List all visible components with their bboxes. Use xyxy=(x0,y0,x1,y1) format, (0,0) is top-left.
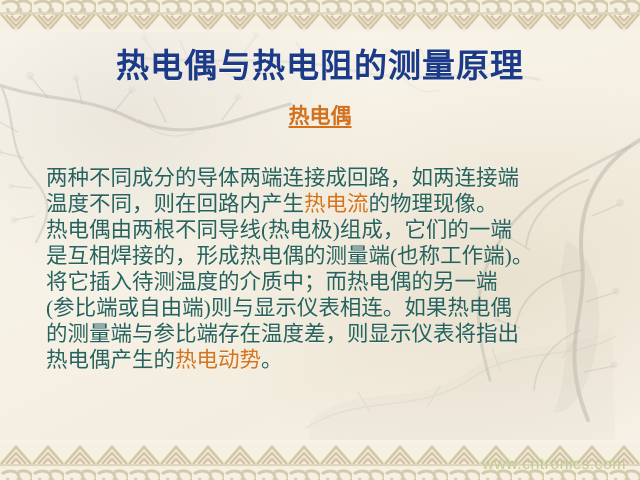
slide-canvas: 热电偶与热电阻的测量原理 热电偶 两种不同成分的导体两端连接成回路，如两连接端温… xyxy=(0,0,640,480)
body-run: (参比端或自由端)则与显示仪表相连。如果热电偶 xyxy=(46,296,512,320)
body-run: 温度不同，则在回路内产生 xyxy=(46,192,304,216)
body-run: 是互相焊接的，形成热电偶的测量端(也称工作端)。 xyxy=(46,244,533,268)
body-line: 两种不同成分的导体两端连接成回路，如两连接端 xyxy=(46,165,608,191)
slide-subtitle: 热电偶 xyxy=(0,103,640,129)
ornamental-border-top xyxy=(0,0,640,32)
body-run: 将它插入待测温度的介质中；而热电偶的另一端 xyxy=(46,270,498,294)
body-highlight-term: 热电流 xyxy=(304,192,369,216)
body-run: 的测量端与参比端存在温度差，则显示仪表将指出 xyxy=(46,322,519,346)
body-run: 热电偶产生的 xyxy=(46,348,175,372)
body-line: 的测量端与参比端存在温度差，则显示仪表将指出 xyxy=(46,321,608,347)
slide-subtitle-text: 热电偶 xyxy=(289,104,352,128)
body-line: 是互相焊接的，形成热电偶的测量端(也称工作端)。 xyxy=(46,243,608,269)
body-line: 热电偶产生的热电动势。 xyxy=(46,347,608,373)
slide-body-text: 两种不同成分的导体两端连接成回路，如两连接端温度不同，则在回路内产生热电流的物理… xyxy=(46,165,608,373)
body-run: 的物理现像。 xyxy=(369,192,498,216)
body-line: (参比端或自由端)则与显示仪表相连。如果热电偶 xyxy=(46,295,608,321)
body-run: 两种不同成分的导体两端连接成回路，如两连接端 xyxy=(46,166,519,190)
body-line: 将它插入待测温度的介质中；而热电偶的另一端 xyxy=(46,269,608,295)
body-line: 温度不同，则在回路内产生热电流的物理现像。 xyxy=(46,191,608,217)
slide-title: 热电偶与热电阻的测量原理 xyxy=(0,47,640,87)
body-line: 热电偶由两根不同导线(热电极)组成，它们的一端 xyxy=(46,217,608,243)
body-run: 。 xyxy=(261,348,283,372)
site-watermark: www.cntronics.com xyxy=(482,456,626,474)
body-highlight-term: 热电动势 xyxy=(175,348,261,372)
body-run: 热电偶由两根不同导线(热电极)组成，它们的一端 xyxy=(46,218,512,242)
